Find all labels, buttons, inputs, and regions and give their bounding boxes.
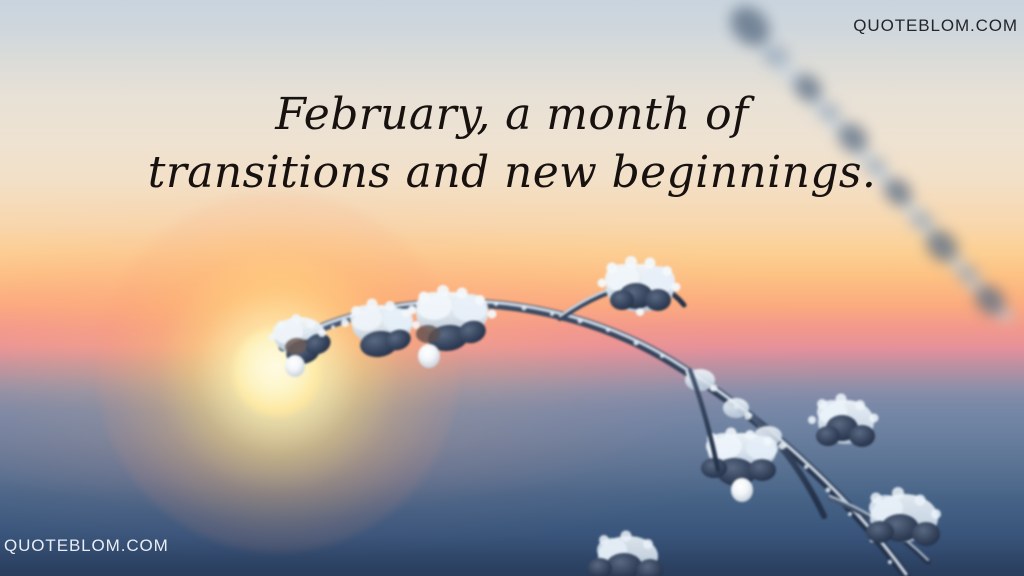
- water-droplet: [285, 355, 305, 377]
- watermark-top-right: QUOTEBLOM.COM: [853, 16, 1018, 36]
- bud-cluster-upper-right: [598, 256, 681, 316]
- water-droplet: [418, 344, 440, 368]
- quote-text: February, a month of transitions and new…: [0, 86, 1024, 202]
- bud-cluster-center-left: [408, 285, 497, 368]
- bud-cluster-bottom-right: [866, 487, 941, 546]
- quote-line-1: February, a month of: [0, 86, 1024, 144]
- quote-card-canvas: February, a month of transitions and new…: [0, 0, 1024, 576]
- bud-cluster-right: [808, 394, 879, 448]
- quote-line-2: transitions and new beginnings.: [0, 144, 1024, 202]
- bud-cluster-bottom-center: [588, 531, 663, 576]
- water-droplet: [731, 478, 753, 502]
- watermark-bottom-left: QUOTEBLOM.COM: [4, 536, 169, 556]
